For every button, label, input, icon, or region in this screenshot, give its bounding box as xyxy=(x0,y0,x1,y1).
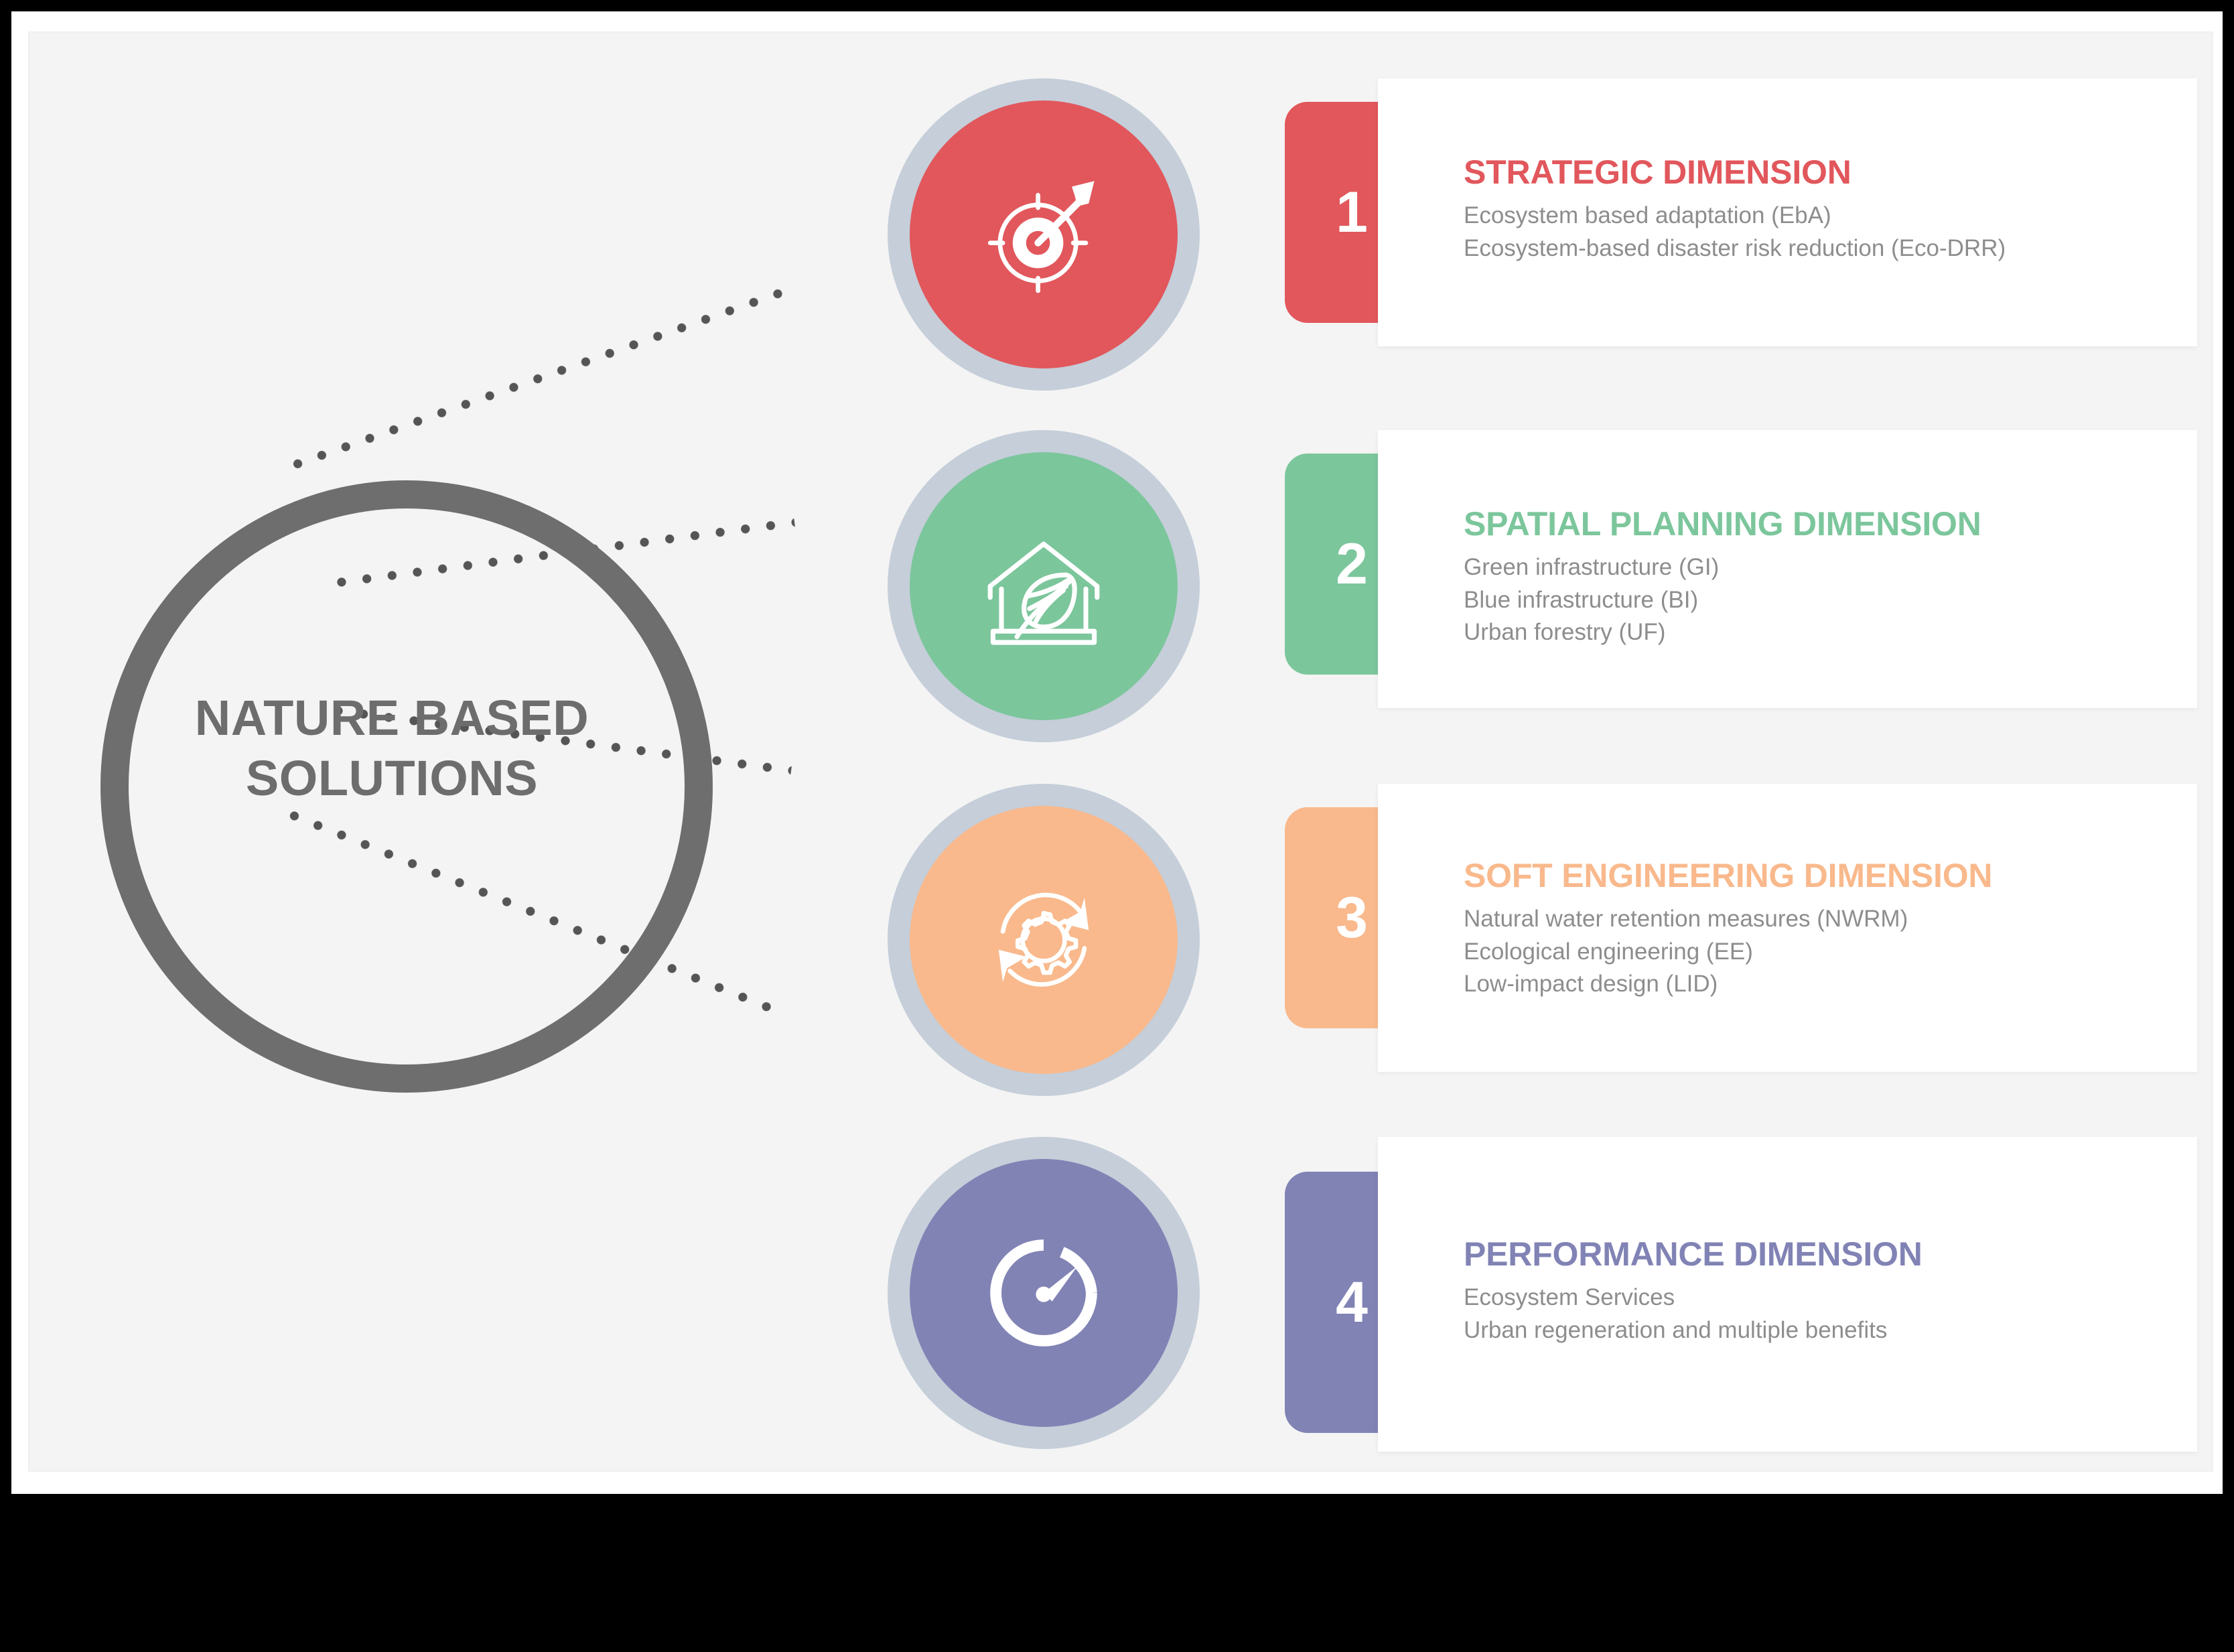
card-body-4: PERFORMANCE DIMENSION Ecosystem Services… xyxy=(1464,1237,1923,1347)
number-label-3: 3 xyxy=(1336,885,1368,951)
card-line: Urban regeneration and multiple benefits xyxy=(1464,1314,1923,1347)
icon-bubble-inner-1 xyxy=(910,100,1178,368)
number-label-1: 1 xyxy=(1336,180,1368,246)
bottom-black-band xyxy=(0,1505,2234,1652)
photo-frame: NATURE BASED SOLUTIONS xyxy=(0,0,2234,1505)
icon-bubble-inner-4 xyxy=(910,1159,1178,1427)
target-arrow-icon xyxy=(973,164,1114,305)
icon-bubble-3[interactable] xyxy=(888,784,1200,1096)
number-label-4: 4 xyxy=(1336,1269,1368,1336)
dimension-row-4: 4 PERFORMANCE DIMENSION Ecosystem Servic… xyxy=(28,1137,2213,1472)
card-body-2: SPATIAL PLANNING DIMENSION Green infrast… xyxy=(1464,507,1981,649)
card-line: Natural water retention measures (NWRM) xyxy=(1464,903,1992,936)
card-line: Urban forestry (UF) xyxy=(1464,616,1981,649)
icon-bubble-1[interactable] xyxy=(888,78,1200,391)
icon-bubble-4[interactable] xyxy=(888,1137,1200,1449)
icon-bubble-inner-2 xyxy=(910,452,1178,720)
card-line: Green infrastructure (GI) xyxy=(1464,551,1981,584)
dimension-card-3[interactable]: SOFT ENGINEERING DIMENSION Natural water… xyxy=(1378,784,2197,1072)
card-title-3: SOFT ENGINEERING DIMENSION xyxy=(1464,859,1992,892)
eco-house-leaf-icon xyxy=(973,516,1114,657)
card-title-2: SPATIAL PLANNING DIMENSION xyxy=(1464,507,1981,541)
icon-bubble-2[interactable] xyxy=(888,430,1200,742)
gauge-icon xyxy=(973,1223,1114,1363)
card-line: Ecosystem-based disaster risk reduction … xyxy=(1464,232,2006,265)
gear-cycle-icon xyxy=(973,870,1114,1010)
card-line: Low-impact design (LID) xyxy=(1464,968,1992,1001)
card-title-1: STRATEGIC DIMENSION xyxy=(1464,155,2006,189)
dimension-card-1[interactable]: STRATEGIC DIMENSION Ecosystem based adap… xyxy=(1378,78,2197,346)
card-title-4: PERFORMANCE DIMENSION xyxy=(1464,1237,1923,1271)
card-body-1: STRATEGIC DIMENSION Ecosystem based adap… xyxy=(1464,155,2006,265)
card-line: Ecosystem based adaptation (EbA) xyxy=(1464,200,2006,232)
card-line: Ecosystem Services xyxy=(1464,1282,1923,1314)
dimension-row-3: 3 SOFT ENGINEERING DIMENSION Natural wat… xyxy=(28,784,2213,1119)
number-label-2: 2 xyxy=(1336,531,1368,598)
card-line: Blue infrastructure (BI) xyxy=(1464,584,1981,617)
card-body-3: SOFT ENGINEERING DIMENSION Natural water… xyxy=(1464,859,1992,1001)
dimension-row-2: 2 SPATIAL PLANNING DIMENSION Green infra… xyxy=(28,430,2213,765)
diagram-canvas: NATURE BASED SOLUTIONS xyxy=(28,31,2213,1472)
dimension-card-2[interactable]: SPATIAL PLANNING DIMENSION Green infrast… xyxy=(1378,430,2197,708)
paper-background: NATURE BASED SOLUTIONS xyxy=(11,11,2223,1494)
dimension-row-1: 1 STRATEGIC DIMENSION Ecosystem based ad… xyxy=(28,78,2213,413)
dimension-card-4[interactable]: PERFORMANCE DIMENSION Ecosystem Services… xyxy=(1378,1137,2197,1452)
card-line: Ecological engineering (EE) xyxy=(1464,936,1992,969)
icon-bubble-inner-3 xyxy=(910,806,1178,1074)
